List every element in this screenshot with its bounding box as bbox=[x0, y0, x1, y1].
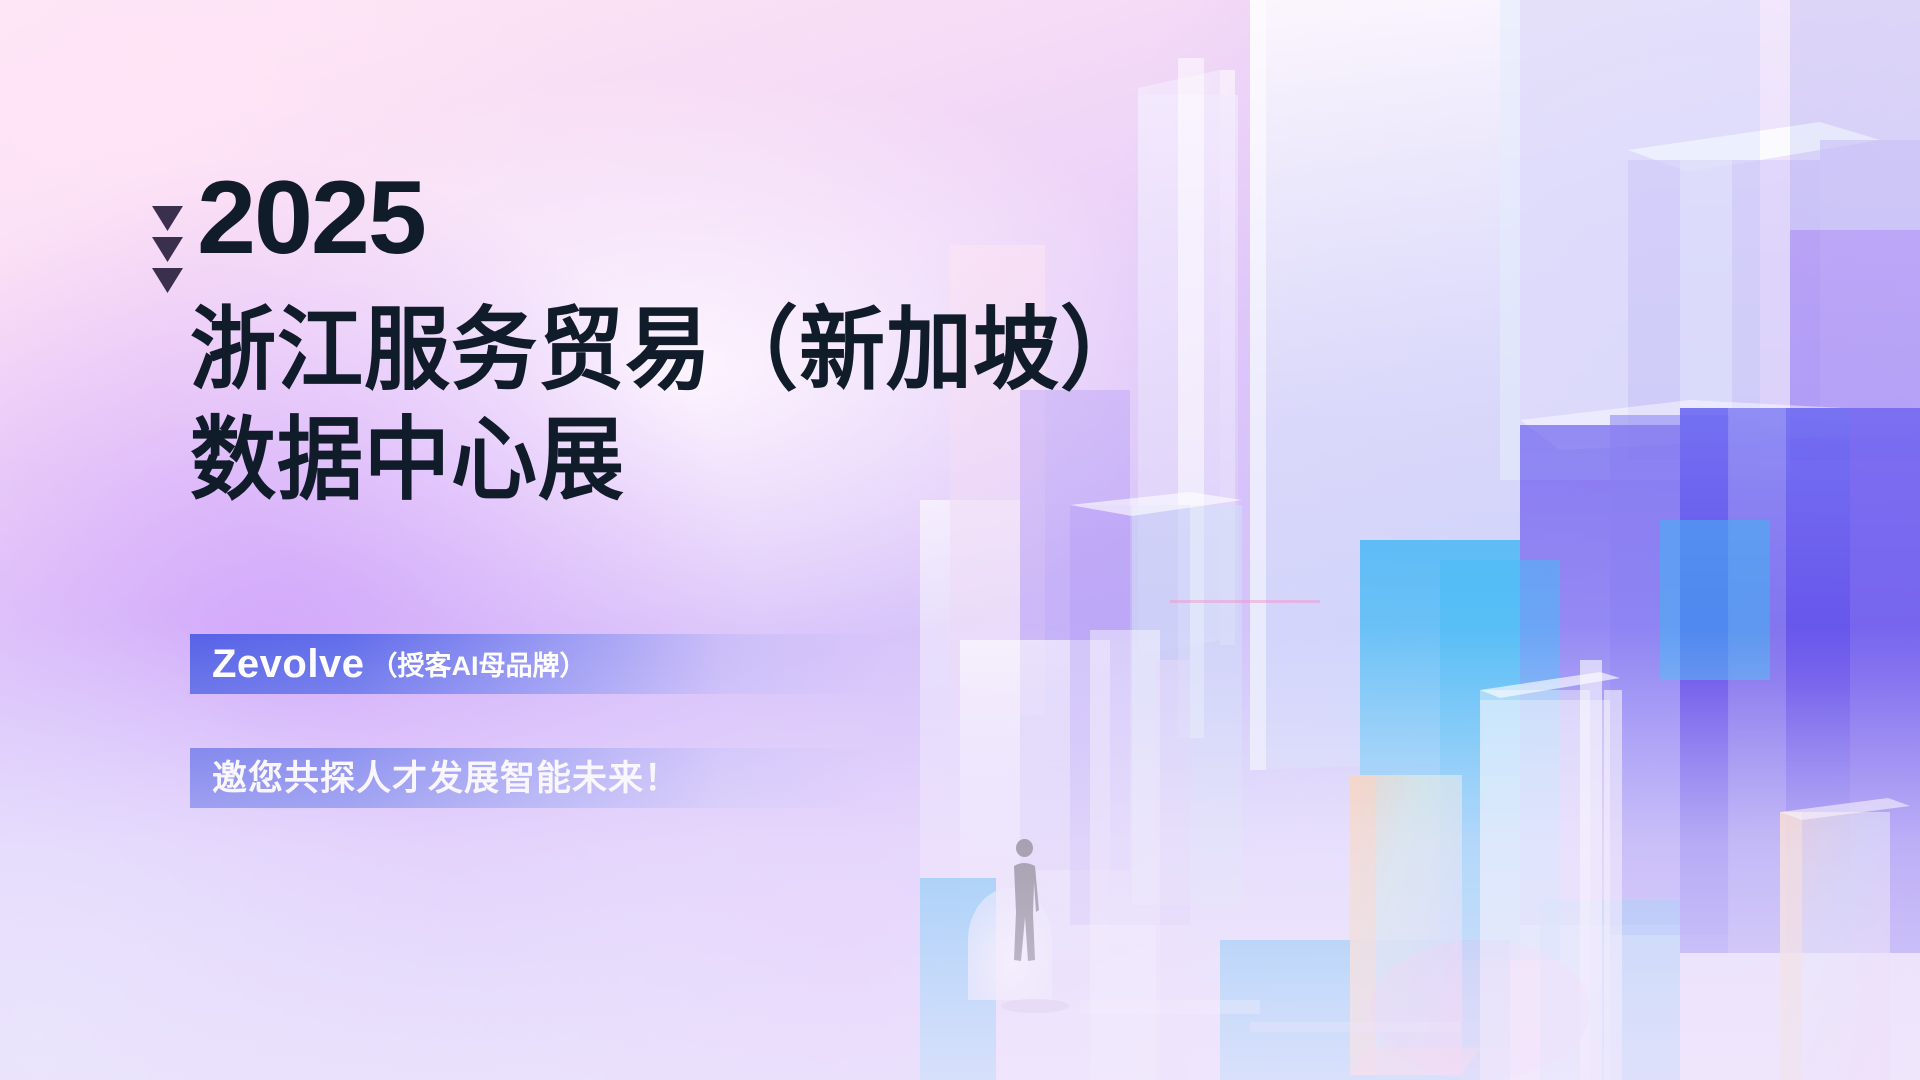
chevron-down-icon bbox=[152, 206, 183, 231]
promo-banner: 2025 浙江服务贸易（新加坡） 数据中心展 Zevolve （授客AI母品牌）… bbox=[0, 0, 1920, 1080]
invite-text: 邀您共探人才发展智能未来！ bbox=[212, 761, 680, 796]
glass-pane-tall-front bbox=[1480, 690, 1622, 1080]
headline: 浙江服务贸易（新加坡） 数据中心展 bbox=[190, 292, 1147, 512]
brand-name: Zevolve bbox=[212, 644, 364, 684]
copy-block: 2025 浙江服务贸易（新加坡） 数据中心展 Zevolve （授客AI母品牌）… bbox=[152, 0, 1152, 1080]
invite-bar: 邀您共探人才发展智能未来！ bbox=[190, 748, 890, 808]
year-row: 2025 bbox=[152, 168, 420, 293]
headline-line-1: 浙江服务贸易（新加坡） bbox=[190, 292, 1147, 409]
chevron-down-icon bbox=[152, 268, 183, 293]
headline-line-2: 数据中心展 bbox=[190, 402, 1147, 519]
brand-bar: Zevolve （授客AI母品牌） bbox=[190, 634, 890, 694]
year-label: 2025 bbox=[197, 168, 425, 270]
chevron-decoration bbox=[152, 206, 183, 293]
neon-accent-line bbox=[1170, 600, 1320, 603]
chevron-down-icon bbox=[152, 237, 183, 262]
brand-subtitle: （授客AI母品牌） bbox=[370, 653, 586, 680]
